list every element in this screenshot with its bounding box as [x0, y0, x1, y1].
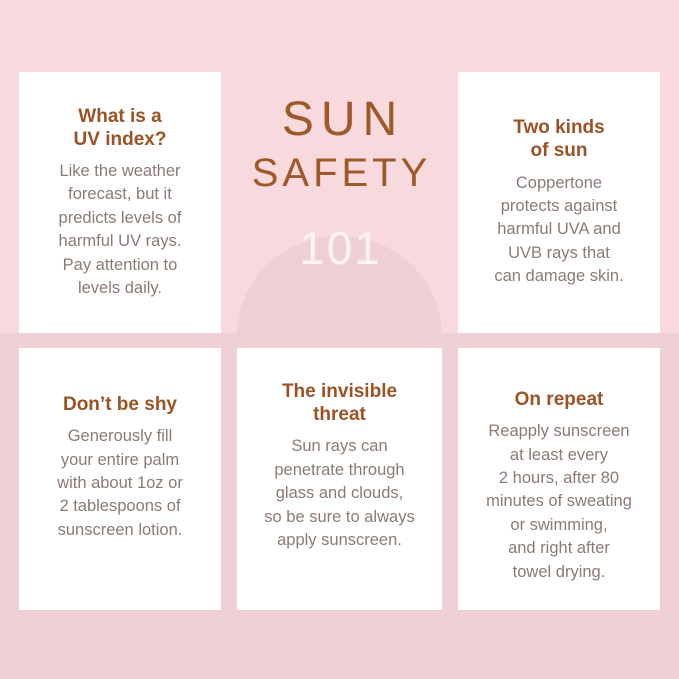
card-body: Sun rays can penetrate through glass and…: [264, 435, 414, 552]
title-line-sun: SUN: [229, 95, 450, 145]
card-body: Coppertone protects against harmful UVA …: [494, 172, 623, 289]
card-on-repeat: On repeat Reapply sunscreen at least eve…: [458, 348, 660, 610]
card-heading: Don’t be shy: [63, 393, 177, 416]
card-heading: Two kinds of sun: [513, 116, 604, 162]
title-line-101: 101: [229, 223, 450, 274]
card-invisible-threat: The invisible threat Sun rays can penetr…: [237, 348, 442, 610]
card-heading: On repeat: [515, 388, 604, 411]
card-heading: What is a UV index?: [74, 105, 167, 151]
center-title-block: SUN SAFETY 101: [229, 95, 450, 274]
card-body: Like the weather forecast, but it predic…: [59, 160, 182, 301]
card-body: Generously fill your entire palm with ab…: [57, 425, 183, 542]
card-heading: The invisible threat: [282, 380, 397, 426]
card-uv-index: What is a UV index? Like the weather for…: [19, 72, 221, 333]
card-body: Reapply sunscreen at least every 2 hours…: [486, 420, 632, 584]
title-line-safety: SAFETY: [229, 149, 450, 197]
card-two-kinds-of-sun: Two kinds of sun Coppertone protects aga…: [458, 72, 660, 333]
sun-safety-infographic: SUN SAFETY 101 What is a UV index? Like …: [0, 0, 679, 679]
card-dont-be-shy: Don’t be shy Generously fill your entire…: [19, 348, 221, 610]
